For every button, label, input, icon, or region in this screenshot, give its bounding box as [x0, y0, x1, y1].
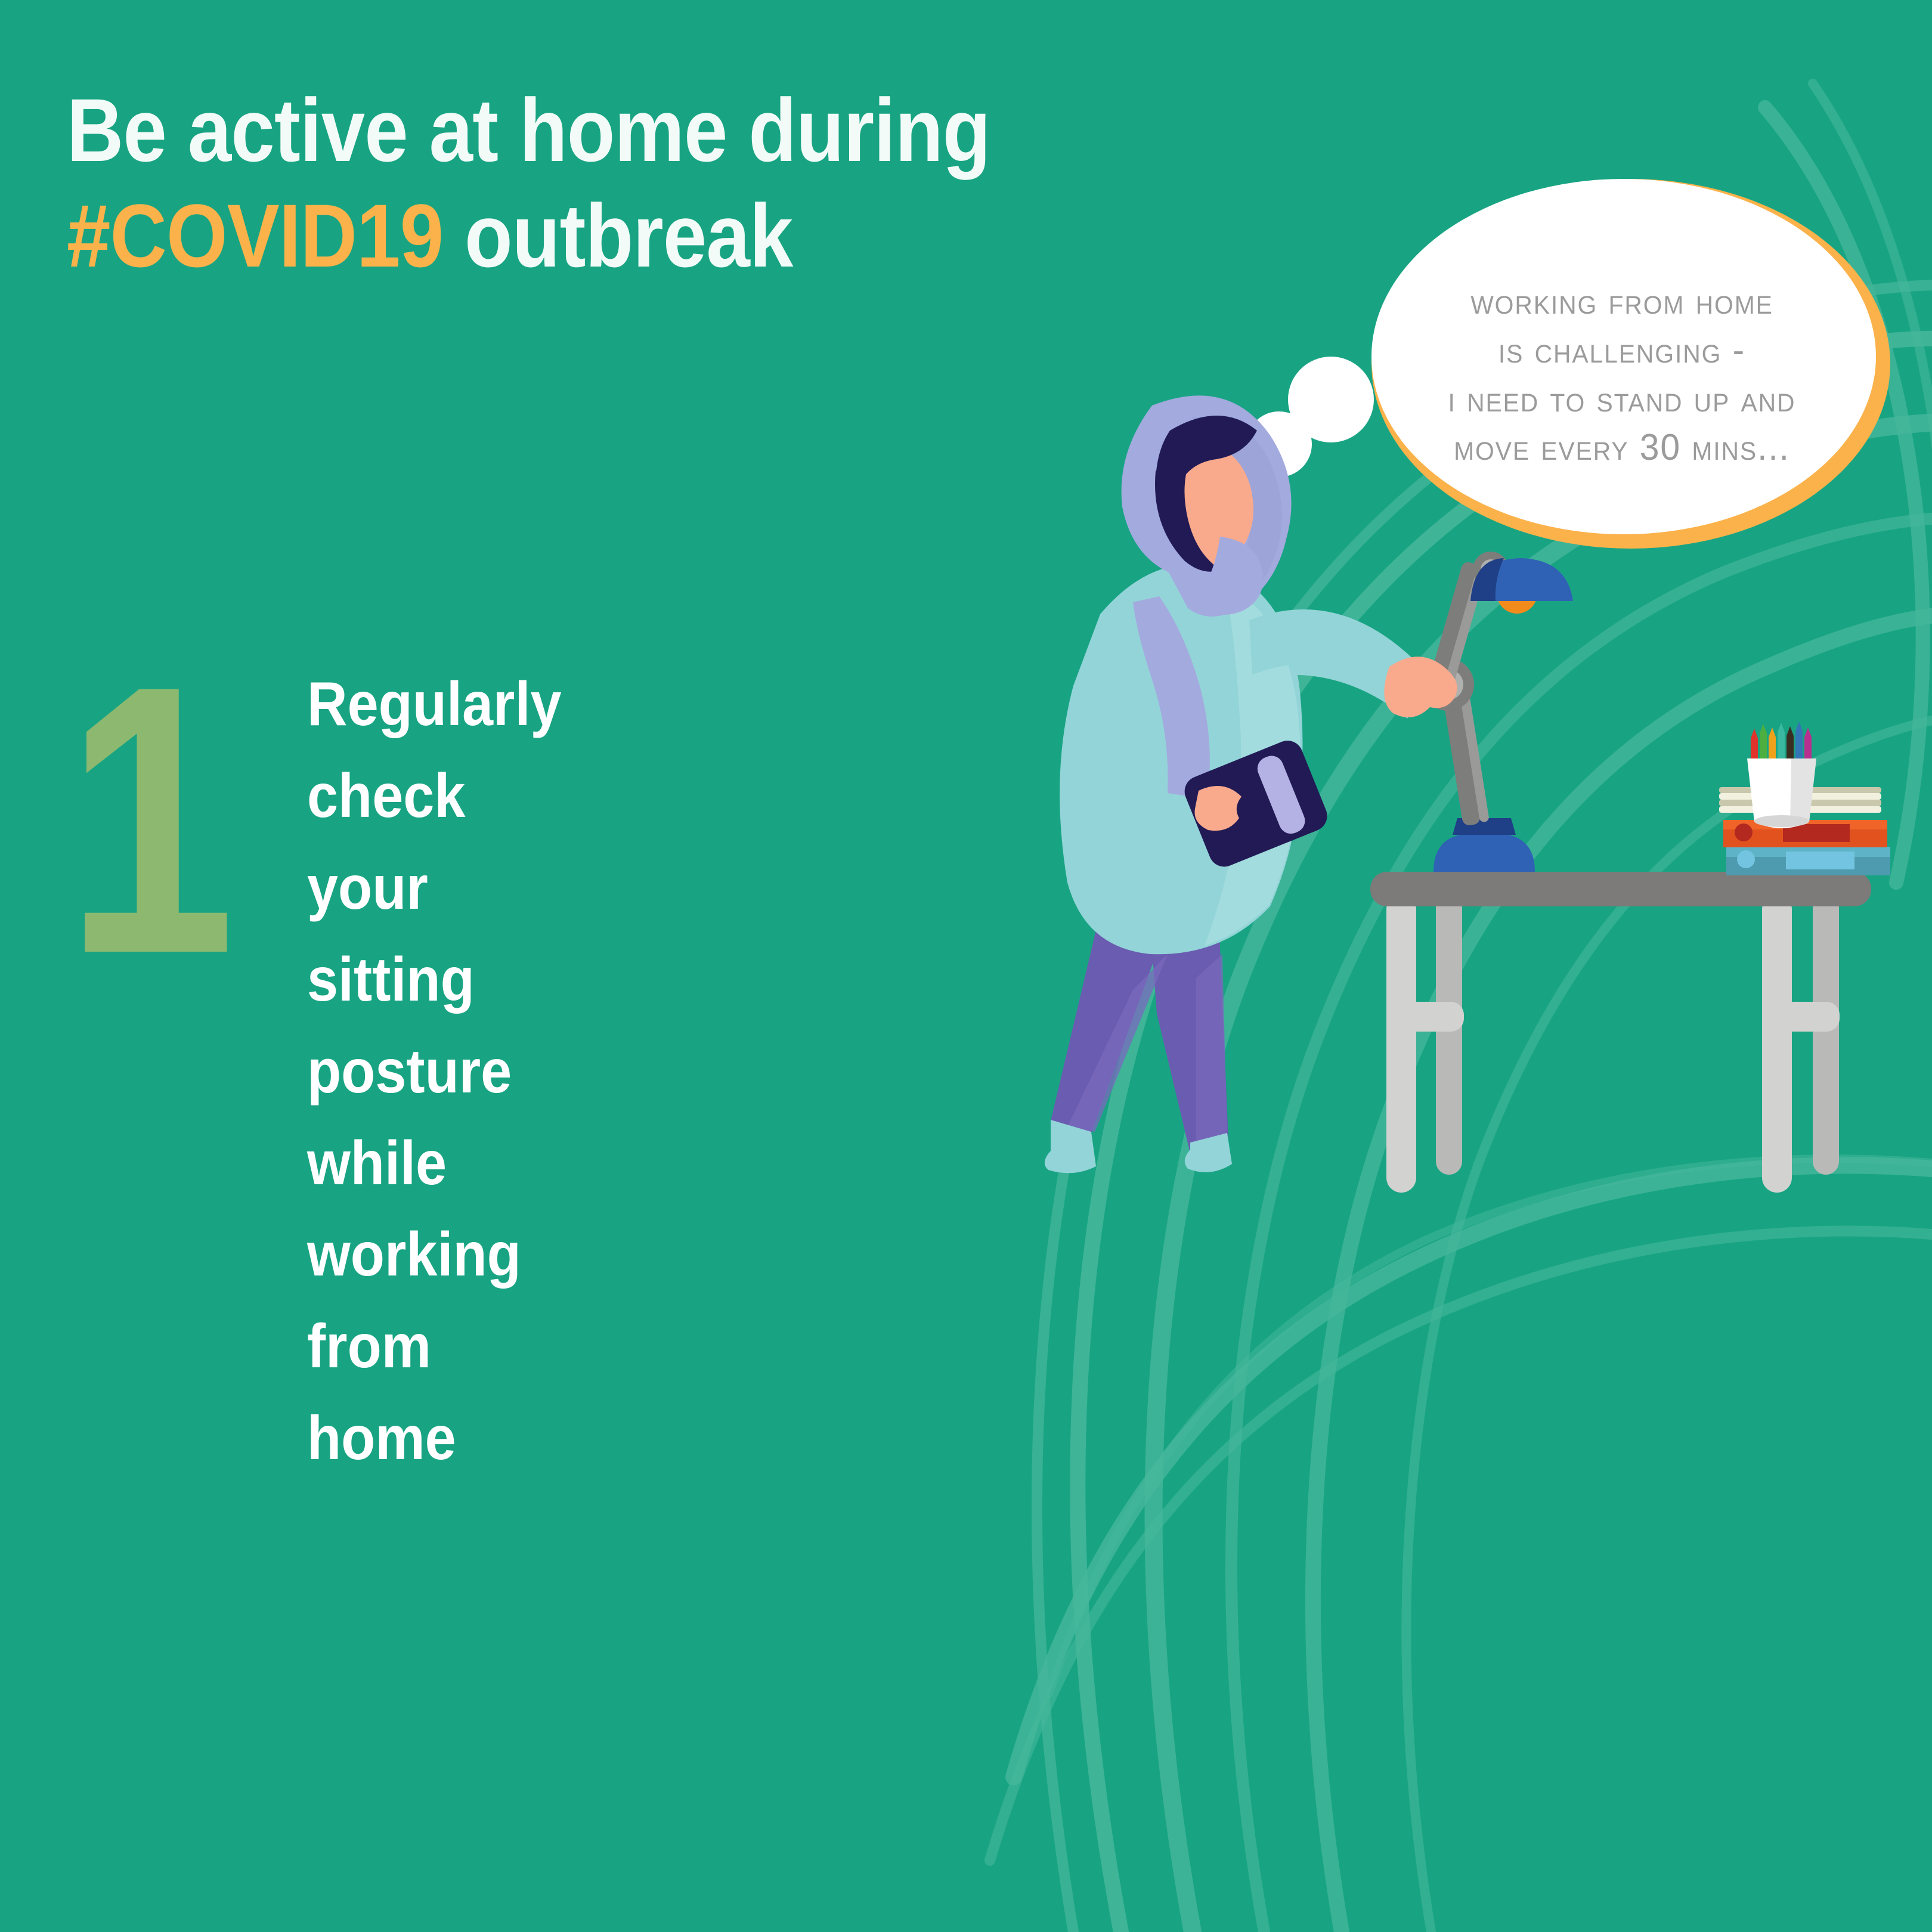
bubble-text: Working from home is challenging - I nee…: [1418, 277, 1826, 472]
thought-dot-large: [1288, 357, 1374, 442]
tip-number-1: 1: [66, 629, 236, 1011]
pencil-cup: [1747, 722, 1816, 828]
footer: World Health Organization #BeActive #Hea…: [0, 1717, 1932, 1932]
tip-text-1: Regularly check your sitting posture whi…: [307, 659, 562, 1485]
desk: [1370, 872, 1871, 1193]
thought-bubble: Working from home is challenging - I nee…: [1371, 179, 1890, 549]
desk-lamp: [1422, 552, 1573, 872]
poster-canvas: Be active at home during #COVID19 outbre…: [0, 0, 1932, 1932]
